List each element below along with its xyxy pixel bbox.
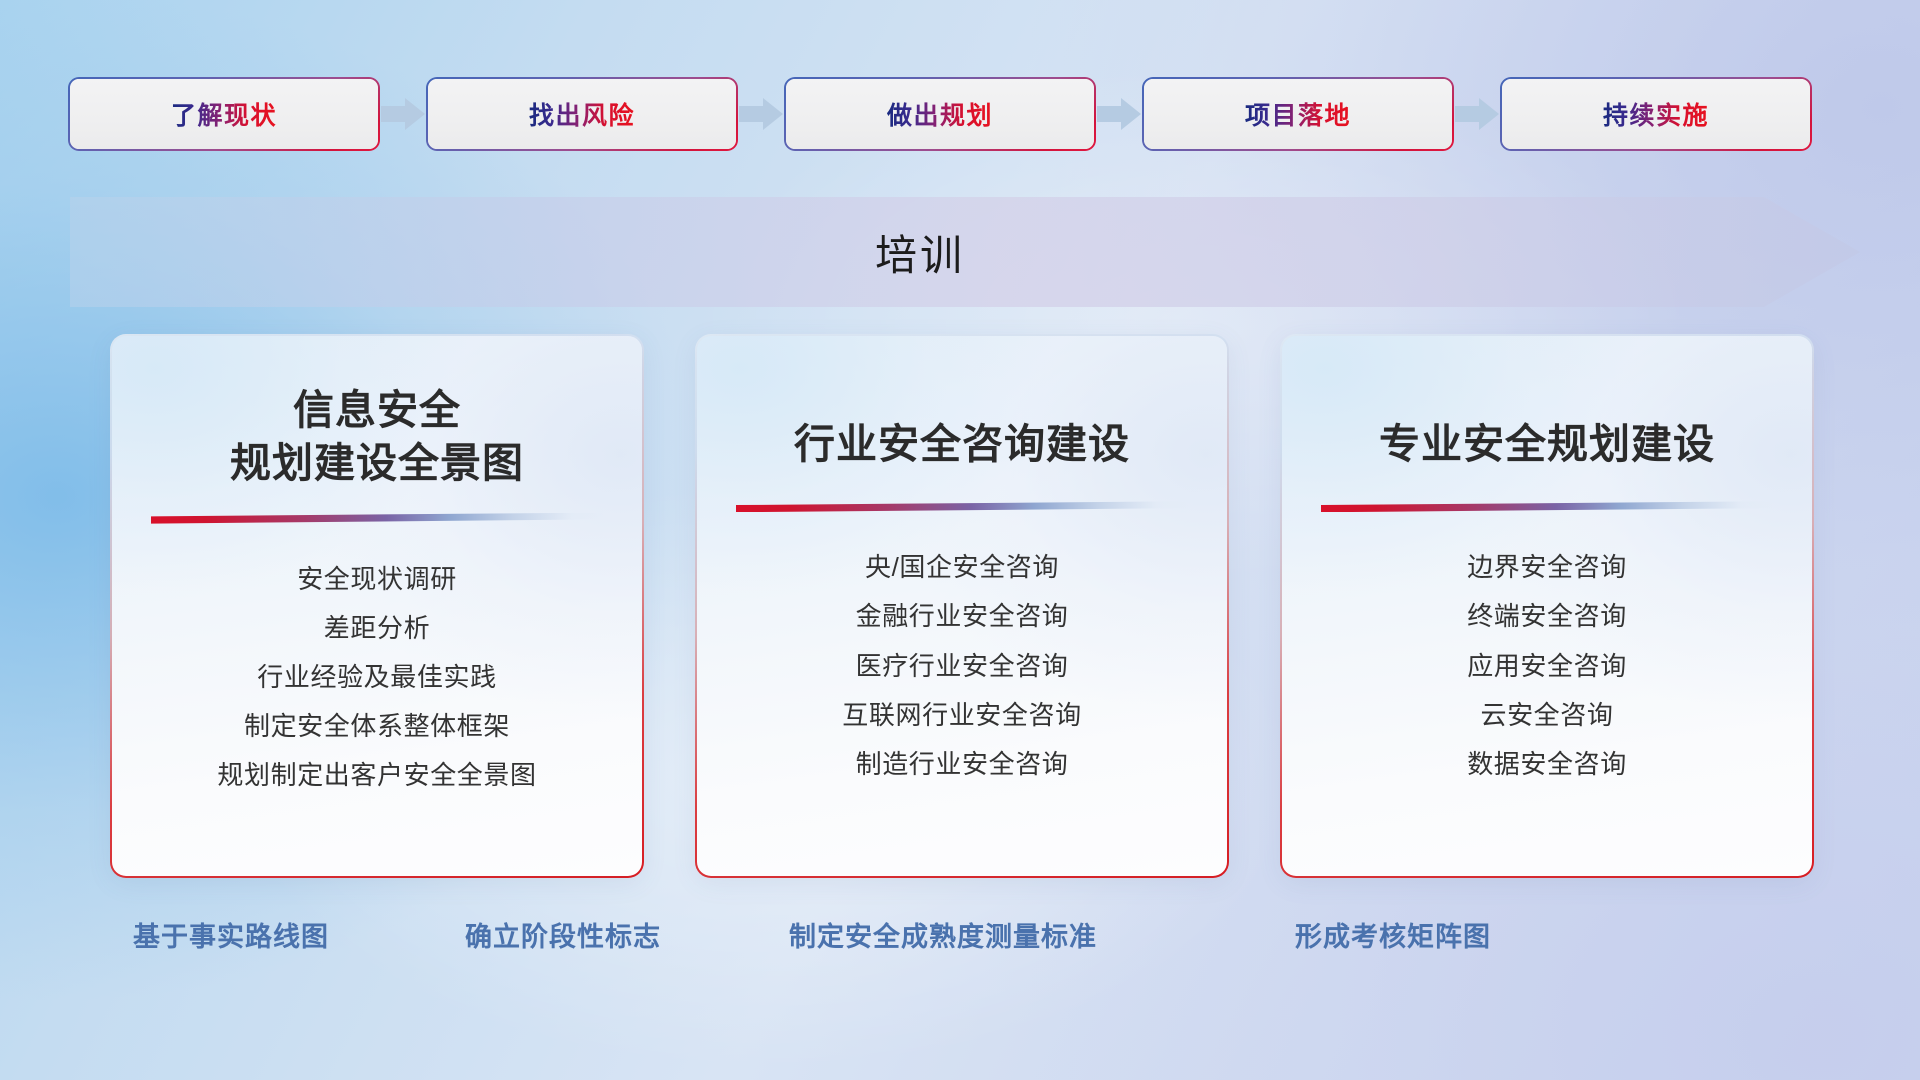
list-item: 安全现状调研: [297, 558, 457, 600]
card-2-title: 行业安全咨询建设: [794, 370, 1130, 471]
card-2-divider: [736, 501, 1188, 512]
step-label-2: 找出风险: [529, 96, 635, 132]
list-item: 行业经验及最佳实践: [257, 656, 496, 698]
list-item: 互联网行业安全咨询: [842, 694, 1081, 736]
card-3-divider: [1321, 501, 1773, 512]
list-item: 数据安全咨询: [1467, 743, 1627, 785]
training-banner: 培训: [70, 197, 1860, 307]
card-1-list: 安全现状调研 差距分析 行业经验及最佳实践 制定安全体系整体框架 规划制定出客户…: [217, 558, 536, 797]
list-item: 终端安全咨询: [1467, 595, 1627, 637]
caption-2: 确立阶段性标志: [465, 915, 661, 954]
card-1-title: 信息安全 规划建设全景图: [230, 370, 524, 491]
step-label-3: 做出规划: [887, 96, 993, 132]
divider-bar: [151, 513, 603, 524]
card-3-list: 边界安全咨询 终端安全咨询 应用安全咨询 云安全咨询 数据安全咨询: [1467, 546, 1627, 785]
list-item: 边界安全咨询: [1467, 546, 1627, 588]
card-row: 信息安全 规划建设全景图 安全现状调研 差距分析 行业经验及最佳实践 制定安全体…: [112, 336, 1812, 876]
list-item: 金融行业安全咨询: [856, 595, 1069, 637]
step-label-1: 了解现状: [171, 96, 277, 132]
step-arrow-1: [378, 98, 428, 130]
step-box-3[interactable]: 做出规划: [786, 79, 1094, 149]
card-2[interactable]: 行业安全咨询建设 央/国企安全咨询 金融行业安全咨询 医疗行业安全咨询 互联网行…: [697, 336, 1227, 876]
step-arrow-2: [736, 98, 786, 130]
step-box-2[interactable]: 找出风险: [428, 79, 736, 149]
step-label-5: 持续实施: [1603, 96, 1709, 132]
list-item: 制造行业安全咨询: [856, 743, 1069, 785]
step-arrow-4: [1452, 98, 1502, 130]
banner-title: 培训: [70, 197, 1860, 307]
slide-canvas: 了解现状 找出风险 做出规划 项目落地: [0, 0, 1920, 1080]
card-3-content: 专业安全规划建设 边界安全咨询 终端安全咨询 应用安全咨询 云安全咨询 数据安全…: [1282, 336, 1812, 876]
step-label-4: 项目落地: [1245, 96, 1351, 132]
step-arrow-3: [1094, 98, 1144, 130]
process-step-row: 了解现状 找出风险 做出规划 项目落地: [70, 78, 1858, 150]
divider-bar: [736, 501, 1188, 512]
divider-bar: [1321, 501, 1773, 512]
card-2-list: 央/国企安全咨询 金融行业安全咨询 医疗行业安全咨询 互联网行业安全咨询 制造行…: [842, 546, 1081, 785]
list-item: 应用安全咨询: [1467, 645, 1627, 687]
caption-3: 制定安全成熟度测量标准: [789, 915, 1097, 954]
step-box-4[interactable]: 项目落地: [1144, 79, 1452, 149]
list-item: 央/国企安全咨询: [865, 546, 1059, 588]
list-item: 医疗行业安全咨询: [856, 645, 1069, 687]
list-item: 差距分析: [324, 607, 430, 649]
card-1-content: 信息安全 规划建设全景图 安全现状调研 差距分析 行业经验及最佳实践 制定安全体…: [112, 336, 642, 876]
card-1-divider: [151, 513, 603, 524]
card-3[interactable]: 专业安全规划建设 边界安全咨询 终端安全咨询 应用安全咨询 云安全咨询 数据安全…: [1282, 336, 1812, 876]
card-2-content: 行业安全咨询建设 央/国企安全咨询 金融行业安全咨询 医疗行业安全咨询 互联网行…: [697, 336, 1227, 876]
list-item: 规划制定出客户安全全景图: [217, 754, 536, 796]
caption-4: 形成考核矩阵图: [1295, 915, 1491, 954]
list-item: 云安全咨询: [1480, 694, 1613, 736]
card-1[interactable]: 信息安全 规划建设全景图 安全现状调研 差距分析 行业经验及最佳实践 制定安全体…: [112, 336, 642, 876]
caption-row: 基于事实路线图 确立阶段性标志 制定安全成熟度测量标准 形成考核矩阵图: [0, 915, 1920, 965]
step-box-1[interactable]: 了解现状: [70, 79, 378, 149]
card-3-title: 专业安全规划建设: [1379, 370, 1715, 471]
list-item: 制定安全体系整体框架: [244, 705, 510, 747]
step-box-5[interactable]: 持续实施: [1502, 79, 1810, 149]
caption-1: 基于事实路线图: [133, 915, 329, 954]
